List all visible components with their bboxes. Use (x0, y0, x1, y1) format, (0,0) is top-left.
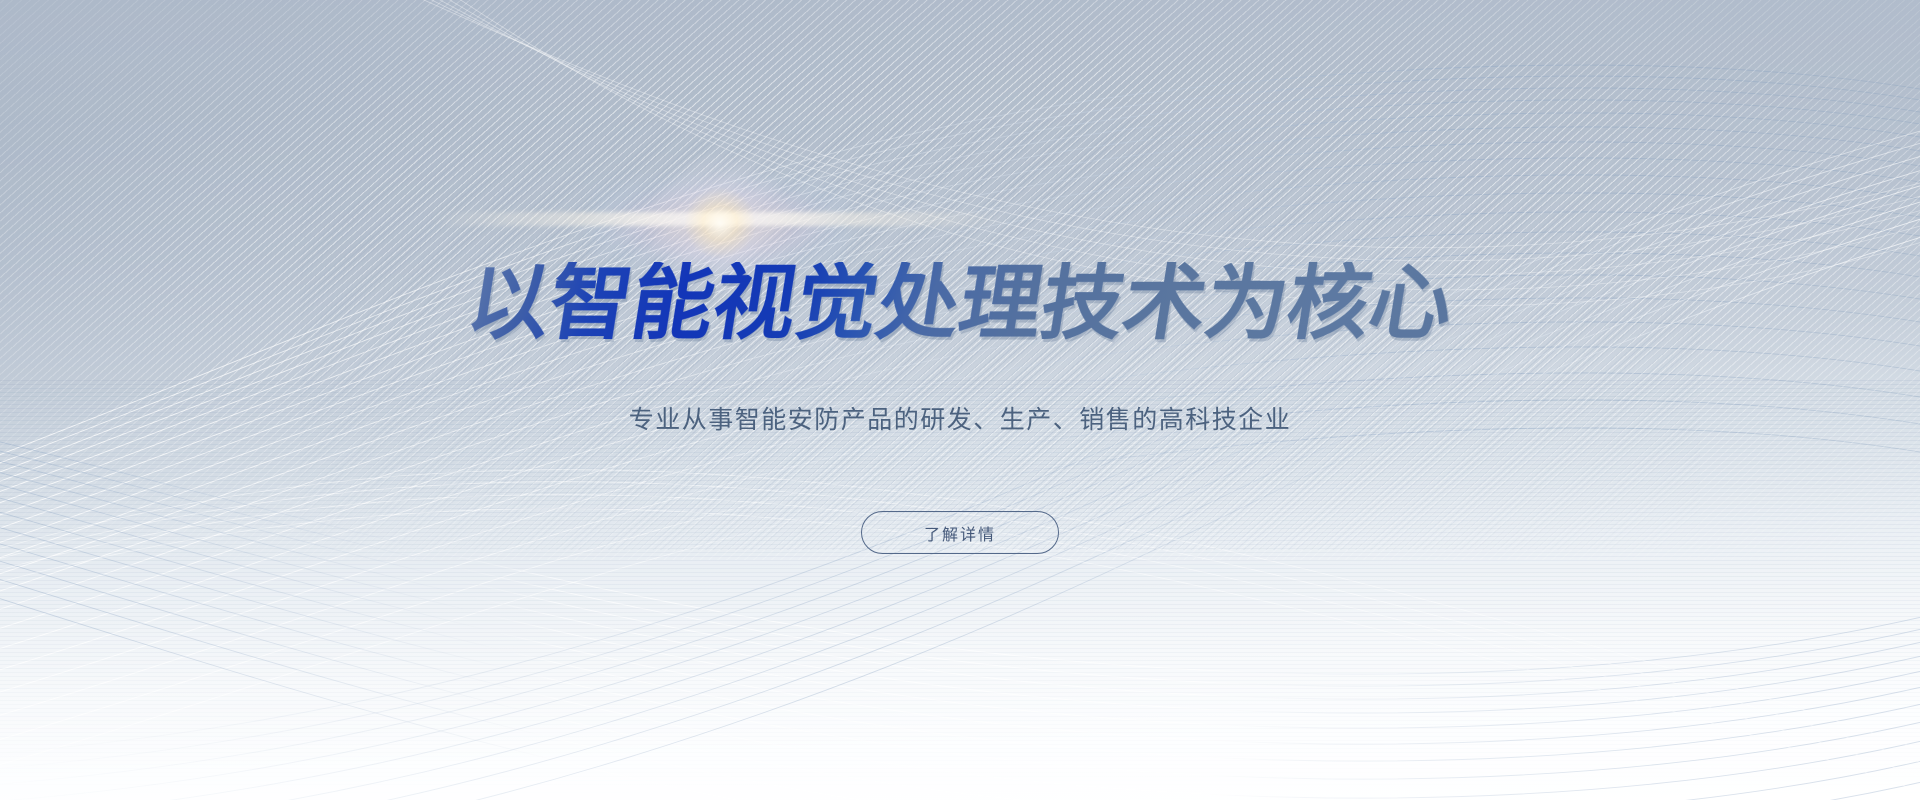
hero-subtitle: 专业从事智能安防产品的研发、生产、销售的高科技企业 (629, 400, 1292, 436)
hero-title: 以智能视觉处理技术为核心 (461, 262, 1458, 346)
hero-banner: 以智能视觉处理技术为核心 专业从事智能安防产品的研发、生产、销售的高科技企业 了… (0, 0, 1920, 800)
learn-more-button[interactable]: 了解详情 (861, 511, 1059, 554)
